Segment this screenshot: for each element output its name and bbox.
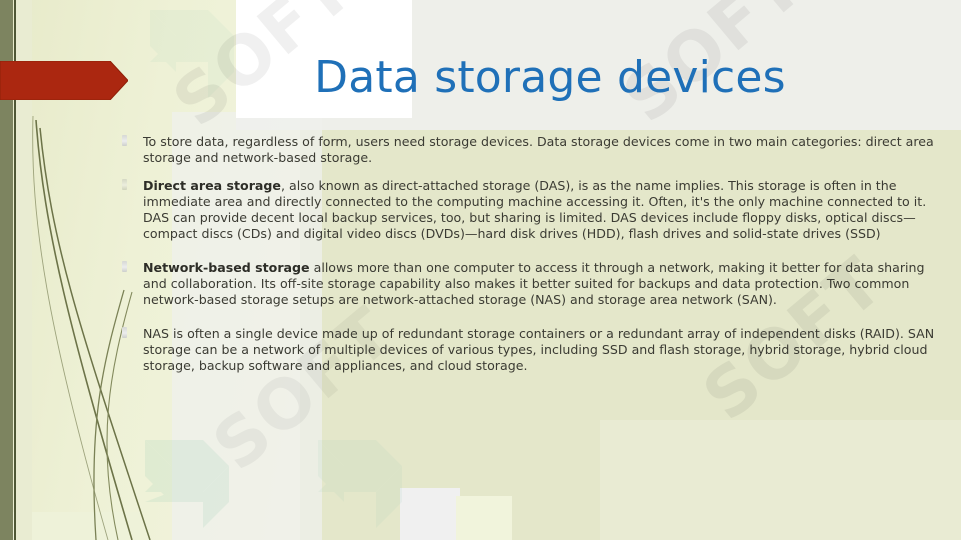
bullet-paragraph-2: Direct area storage, also known as direc… xyxy=(118,178,938,243)
bullet-text-1: To store data, regardless of form, users… xyxy=(143,134,934,165)
slide-title: Data storage devices xyxy=(150,54,950,102)
bullet-lead-3: Network-based storage xyxy=(143,260,310,275)
presentation-slide: SOFT SOFT SOFT SOFT Data storage devices… xyxy=(0,0,961,540)
background-step-one xyxy=(400,488,460,540)
bullet-paragraph-3: Network-based storage allows more than o… xyxy=(118,260,938,309)
tick-bullet-icon xyxy=(121,327,128,340)
slide-body: To store data, regardless of form, users… xyxy=(118,134,938,386)
bullet-text-4: NAS is often a single device made up of … xyxy=(143,326,934,374)
red-arrow-banner xyxy=(0,61,128,100)
background-wash-bottom xyxy=(600,420,961,540)
tick-bullet-icon xyxy=(121,135,128,148)
bullet-paragraph-1: To store data, regardless of form, users… xyxy=(118,134,938,167)
tick-bullet-icon xyxy=(121,179,128,192)
tick-bullet-icon xyxy=(121,261,128,274)
bullet-paragraph-4: NAS is often a single device made up of … xyxy=(118,326,938,375)
background-step-two xyxy=(456,496,512,540)
bullet-lead-2: Direct area storage xyxy=(143,178,281,193)
